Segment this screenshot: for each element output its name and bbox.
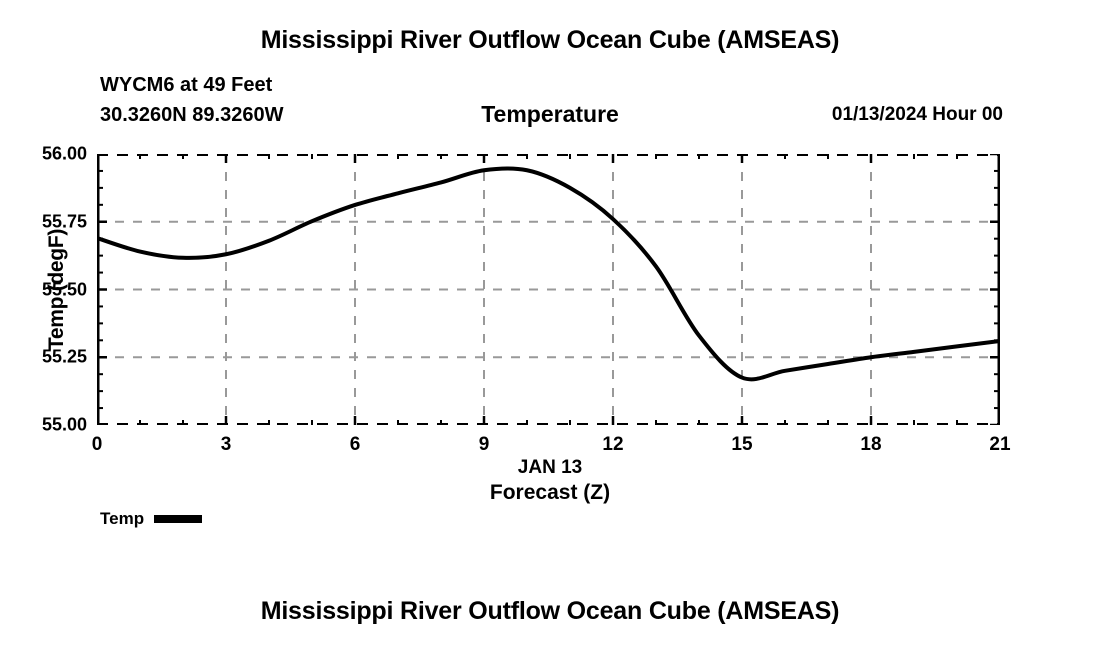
x-tick-label: 9 (479, 434, 490, 456)
y-tick-label: 55.75 (42, 211, 87, 232)
station-label: WYCM6 at 49 Feet (100, 74, 272, 97)
legend-item-label: Temp (100, 509, 144, 529)
data-series-layer (97, 168, 1000, 379)
y-tick-label: 55.00 (42, 415, 87, 436)
chart-canvas: Mississippi River Outflow Ocean Cube (AM… (0, 0, 1100, 650)
x-tick-label: 18 (860, 434, 881, 456)
x-tick-label: 15 (731, 434, 752, 456)
x-tick-label: 21 (989, 434, 1010, 456)
page-title: Mississippi River Outflow Ocean Cube (AM… (0, 26, 1100, 55)
legend-color-swatch (154, 515, 202, 523)
y-tick-label: 56.00 (42, 144, 87, 165)
temperature-line-chart (97, 154, 1000, 425)
chart-legend: Temp (100, 509, 202, 529)
y-tick-label: 55.25 (42, 347, 87, 368)
x-axis-date-label: JAN 13 (0, 457, 1100, 479)
footer-title: Mississippi River Outflow Ocean Cube (AM… (0, 597, 1100, 626)
x-tick-label: 0 (92, 434, 103, 456)
plot-area: Temp (degF) 55.0055.2555.5055.7556.00 03… (97, 154, 1000, 425)
model-run-label: 01/13/2024 Hour 00 (832, 104, 1003, 126)
grid-lines (97, 154, 1000, 425)
x-tick-label: 12 (602, 434, 623, 456)
x-tick-label: 3 (221, 434, 232, 456)
y-tick-label: 55.50 (42, 279, 87, 300)
x-tick-label: 6 (350, 434, 361, 456)
x-axis-label: Forecast (Z) (0, 481, 1100, 505)
